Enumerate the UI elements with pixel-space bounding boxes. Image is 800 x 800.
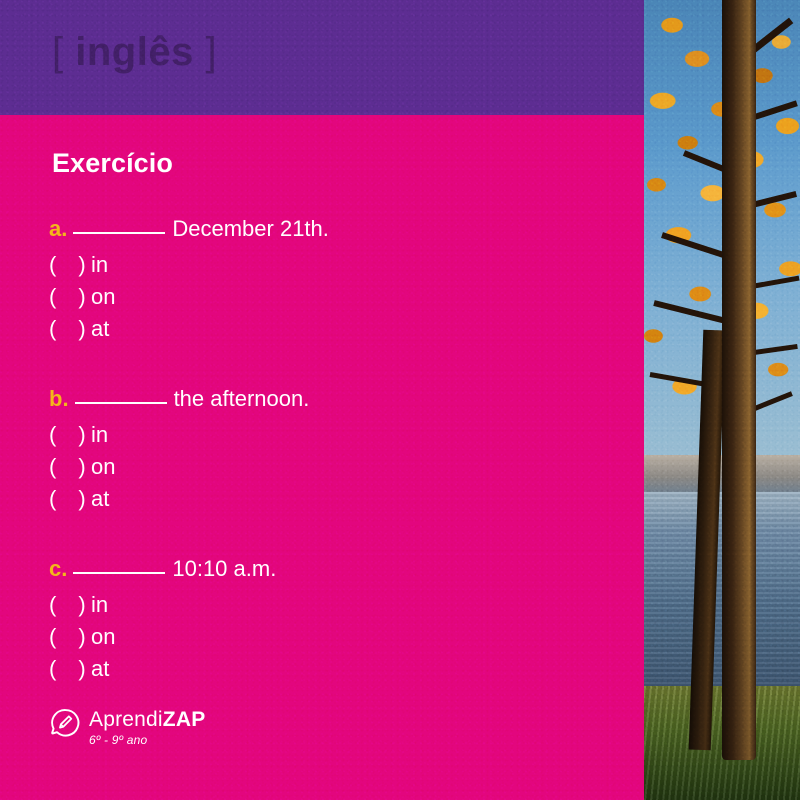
logo-word-zap: ZAP bbox=[163, 708, 206, 731]
answer-blank[interactable] bbox=[73, 572, 165, 574]
option-row[interactable]: ()in bbox=[49, 419, 609, 451]
question-text: the afternoon. bbox=[174, 386, 310, 411]
option-checkbox[interactable]: () bbox=[49, 249, 89, 281]
bracket-close: ] bbox=[205, 30, 217, 74]
paren-right: ) bbox=[78, 656, 85, 681]
option-label: at bbox=[91, 316, 109, 341]
question-item: b.the afternoon. ()in ()on ()at bbox=[49, 383, 609, 515]
option-row[interactable]: ()in bbox=[49, 249, 609, 281]
option-label: at bbox=[91, 486, 109, 511]
logo-wordmark: AprendiZAP bbox=[89, 708, 205, 731]
content-panel: [ inglês ] Exercício a.December 21th. ()… bbox=[0, 0, 644, 800]
paren-left: ( bbox=[49, 284, 56, 309]
logo-subtitle: 6º - 9º ano bbox=[89, 733, 205, 748]
question-letter: c. bbox=[49, 556, 67, 581]
paren-right: ) bbox=[78, 454, 85, 479]
subject-name: inglês bbox=[75, 30, 194, 74]
answer-blank[interactable] bbox=[73, 232, 165, 234]
question-prompt: a.December 21th. bbox=[49, 213, 609, 245]
question-item: a.December 21th. ()in ()on ()at bbox=[49, 213, 609, 345]
option-label: in bbox=[91, 592, 108, 617]
speech-bubble-pencil-icon bbox=[50, 708, 80, 738]
paren-left: ( bbox=[49, 592, 56, 617]
subject-header-band: [ inglês ] bbox=[0, 0, 644, 115]
option-row[interactable]: ()at bbox=[49, 483, 609, 515]
bracket-open: [ bbox=[52, 30, 64, 74]
paren-left: ( bbox=[49, 454, 56, 479]
option-list: ()in ()on ()at bbox=[49, 419, 609, 515]
page-title: Exercício bbox=[52, 148, 173, 179]
paren-right: ) bbox=[78, 284, 85, 309]
question-item: c.10:10 a.m. ()in ()on ()at bbox=[49, 553, 609, 685]
photo-vignette bbox=[644, 0, 800, 800]
option-checkbox[interactable]: () bbox=[49, 419, 89, 451]
paren-right: ) bbox=[78, 252, 85, 277]
option-row[interactable]: ()on bbox=[49, 621, 609, 653]
question-text: 10:10 a.m. bbox=[172, 556, 276, 581]
option-checkbox[interactable]: () bbox=[49, 451, 89, 483]
question-prompt: b.the afternoon. bbox=[49, 383, 609, 415]
option-checkbox[interactable]: () bbox=[49, 653, 89, 685]
logo-text: AprendiZAP 6º - 9º ano bbox=[89, 707, 205, 748]
option-label: on bbox=[91, 284, 115, 309]
paren-left: ( bbox=[49, 422, 56, 447]
paren-left: ( bbox=[49, 624, 56, 649]
option-row[interactable]: ()on bbox=[49, 451, 609, 483]
autumn-tree-by-lake-photo bbox=[644, 0, 800, 800]
question-list: a.December 21th. ()in ()on ()at b.the af… bbox=[49, 213, 609, 685]
option-row[interactable]: ()at bbox=[49, 653, 609, 685]
exercise-card: [ inglês ] Exercício a.December 21th. ()… bbox=[0, 0, 800, 800]
question-letter: b. bbox=[49, 386, 69, 411]
option-list: ()in ()on ()at bbox=[49, 249, 609, 345]
option-checkbox[interactable]: () bbox=[49, 589, 89, 621]
option-label: on bbox=[91, 624, 115, 649]
option-label: in bbox=[91, 422, 108, 447]
option-row[interactable]: ()at bbox=[49, 313, 609, 345]
option-row[interactable]: ()on bbox=[49, 281, 609, 313]
option-checkbox[interactable]: () bbox=[49, 313, 89, 345]
option-label: at bbox=[91, 656, 109, 681]
option-list: ()in ()on ()at bbox=[49, 589, 609, 685]
option-row[interactable]: ()in bbox=[49, 589, 609, 621]
paren-right: ) bbox=[78, 592, 85, 617]
paren-left: ( bbox=[49, 486, 56, 511]
question-prompt: c.10:10 a.m. bbox=[49, 553, 609, 585]
answer-blank[interactable] bbox=[75, 402, 167, 404]
option-label: in bbox=[91, 252, 108, 277]
aprendizap-logo[interactable]: AprendiZAP 6º - 9º ano bbox=[50, 707, 205, 748]
logo-word-aprendi: Aprendi bbox=[89, 708, 163, 731]
option-label: on bbox=[91, 454, 115, 479]
paren-right: ) bbox=[78, 316, 85, 341]
option-checkbox[interactable]: () bbox=[49, 483, 89, 515]
paren-left: ( bbox=[49, 252, 56, 277]
option-checkbox[interactable]: () bbox=[49, 621, 89, 653]
exercise-body: Exercício a.December 21th. ()in ()on ()a… bbox=[0, 115, 644, 800]
paren-right: ) bbox=[78, 624, 85, 649]
paren-right: ) bbox=[78, 486, 85, 511]
option-checkbox[interactable]: () bbox=[49, 281, 89, 313]
paren-right: ) bbox=[78, 422, 85, 447]
question-letter: a. bbox=[49, 216, 67, 241]
question-text: December 21th. bbox=[172, 216, 329, 241]
paren-left: ( bbox=[49, 656, 56, 681]
paren-left: ( bbox=[49, 316, 56, 341]
subject-tag: [ inglês ] bbox=[52, 30, 217, 75]
